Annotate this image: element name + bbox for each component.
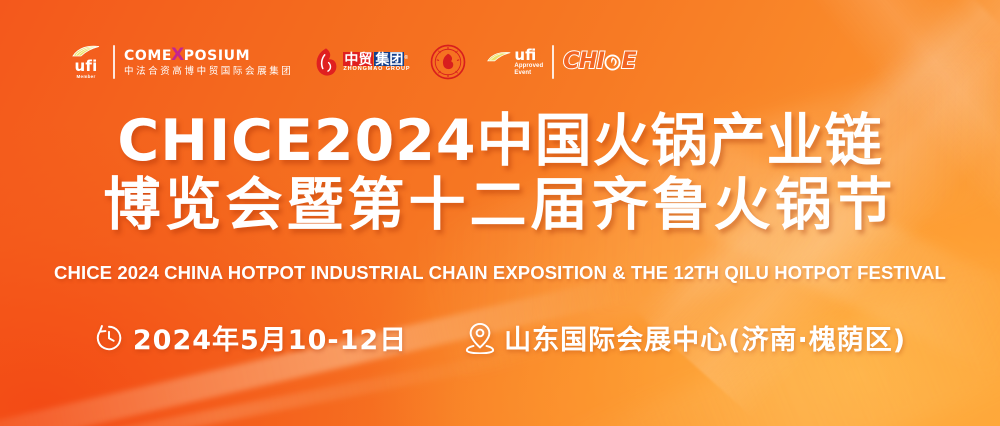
event-date-text: 2024年5月10-12日 <box>133 318 407 357</box>
ufi-approved-line2: Event <box>514 70 543 77</box>
logo-divider <box>113 45 115 79</box>
event-info-row: 2024年5月10-12日 山东国际会展中心(济南·槐荫区) <box>0 318 1000 357</box>
comexposium-text-right: POSIUM <box>184 49 250 63</box>
ufi-approved-line1: Approved <box>514 63 543 70</box>
event-date-item: 2024年5月10-12日 <box>94 318 407 357</box>
zhongmao-chinese-blue: 集团 <box>374 52 404 66</box>
light-ray-decoration <box>0 349 526 426</box>
zhongmao-english-name: ZHONGMAO GROUP <box>343 67 410 73</box>
chice-wordmark: CHI E <box>563 51 636 73</box>
zhongmao-chinese-red: 中贸 <box>343 52 373 66</box>
logo-association-seal[interactable] <box>430 36 466 88</box>
ufi-wing-icon <box>71 45 101 58</box>
zhongmao-wordmark: 中贸集团® <box>343 52 410 66</box>
comexposium-text-left: COME <box>124 49 172 63</box>
registered-trademark-icon: ® <box>404 56 408 61</box>
location-pin-icon <box>465 322 495 354</box>
ufi-wordmark: ufi <box>75 59 98 74</box>
ufi-wing-icon <box>486 51 512 63</box>
comexposium-wordmark: COMEXPOSIUM <box>124 47 293 64</box>
event-venue-item: 山东国际会展中心(济南·槐荫区) <box>465 318 906 357</box>
logo-zhongmao-group[interactable]: 中贸集团® ZHONGMAO GROUP <box>313 36 410 88</box>
clock-icon <box>94 323 124 353</box>
logo-chice[interactable]: CHI E <box>563 36 636 88</box>
ufi-wordmark: ufi <box>514 48 543 63</box>
chice-text-left: CHI <box>563 51 604 73</box>
event-banner: ufi Member COMEXPOSIUM 中法合资高博中贸国际会展集团 <box>0 0 1000 426</box>
subtitle-english: CHICE 2024 CHINA HOTPOT INDUSTRIAL CHAIN… <box>0 262 1000 284</box>
event-venue-text: 山东国际会展中心(济南·槐荫区) <box>504 318 906 357</box>
comexposium-chinese-name: 中法合资高博中贸国际会展集团 <box>124 67 293 77</box>
logo-ufi-approved-event[interactable]: ufi Approved Event <box>486 36 543 88</box>
title-line-2: 博览会暨第十二届齐鲁火锅节 <box>0 176 1000 234</box>
chice-text-right: E <box>621 51 636 73</box>
logo-ufi-member[interactable]: ufi Member <box>68 36 104 88</box>
sponsor-logo-strip: ufi Member COMEXPOSIUM 中法合资高博中贸国际会展集团 <box>68 36 636 88</box>
logo-divider <box>552 45 554 79</box>
title-line-1: CHICE2024中国火锅产业链 <box>0 112 1000 170</box>
logo-comexposium[interactable]: COMEXPOSIUM 中法合资高博中贸国际会展集团 <box>124 36 293 88</box>
zhongmao-mark-icon <box>313 47 339 77</box>
headline-block: CHICE2024中国火锅产业链 博览会暨第十二届齐鲁火锅节 <box>0 112 1000 234</box>
comexposium-x-glyph: X <box>171 47 185 64</box>
circular-seal-icon <box>430 44 466 80</box>
hotpot-flame-icon <box>604 54 621 71</box>
ufi-member-label: Member <box>76 75 95 80</box>
